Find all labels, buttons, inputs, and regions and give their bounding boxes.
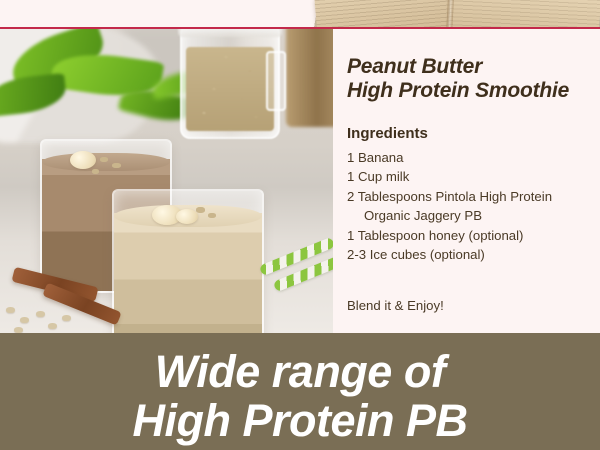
banner-headline-line1: Wide range of [0,347,600,396]
ingredient-item: 1 Tablespoon honey (optional) [347,226,595,245]
oat-flake [62,315,71,321]
book-text-lines [315,0,458,28]
smoothie-fill [114,213,262,333]
ingredients-heading: Ingredients [347,125,428,142]
closing-note: Blend it & Enjoy! [347,298,444,313]
ingredients-list: 1 Banana 1 Cup milk 2 Tablespoons Pintol… [347,148,595,264]
oat-flake [92,169,99,174]
ingredient-item: 1 Cup milk [347,167,595,186]
smoothie-photo [0,29,333,333]
book-page-right [449,0,600,28]
banana-slice [70,151,96,169]
banana-slice [176,209,198,224]
ingredient-item: 1 Banana [347,148,595,167]
ingredient-item: Organic Jaggery PB [347,206,595,225]
jar-oats [186,47,274,131]
oat-flake [208,213,216,218]
book-text-lines [449,0,600,28]
banner-headline: Wide range of High Protein PB [0,347,600,445]
jar-clasp [266,51,286,111]
bottom-banner: Wide range of High Protein PB [0,333,600,450]
ingredient-item: 2-3 Ice cubes (optional) [347,245,595,264]
banner-headline-line2: High Protein PB [0,396,600,445]
oat-flake [20,317,29,323]
recipe-title-line2: High Protein Smoothie [347,79,593,103]
oat-flake [112,163,121,168]
smoothie-surface [42,153,170,171]
promo-page: Peanut Butter High Protein Smoothie Ingr… [0,0,600,450]
granola-jar [180,29,280,139]
recipe-title: Peanut Butter High Protein Smoothie [347,55,593,103]
oat-flake [48,323,57,329]
ingredient-item: 2 Tablespoons Pintola High Protein [347,187,595,206]
open-book-photo [310,0,600,28]
oat-flake [6,307,15,313]
top-strip [0,0,600,28]
book-page-left [315,0,458,28]
oat-flake [36,311,45,317]
jar-lid [178,29,282,37]
recipe-title-line1: Peanut Butter [347,55,593,79]
oat-flake [196,207,205,213]
recipe-panel: Peanut Butter High Protein Smoothie Ingr… [333,29,600,333]
peanut-butter-bottle [286,29,333,127]
oat-flake [100,157,108,162]
